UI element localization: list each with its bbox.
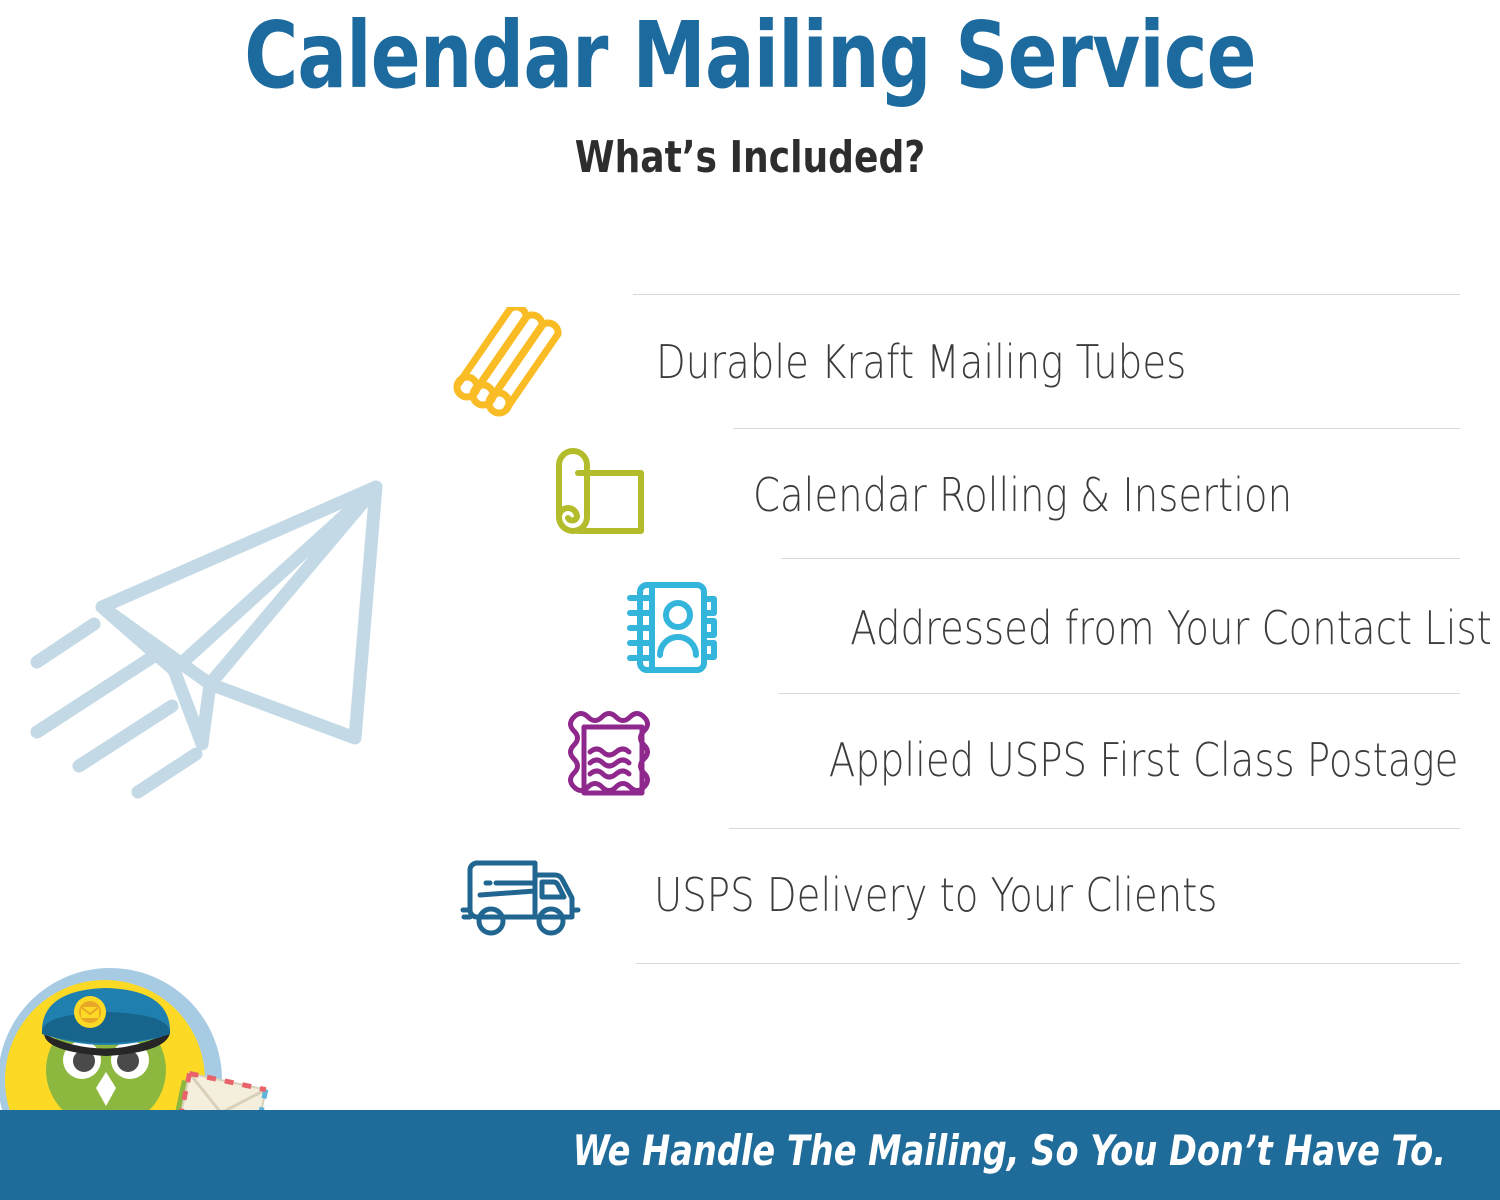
mailing-tubes-icon [450, 307, 570, 417]
feature-label: USPS Delivery to Your Clients [654, 872, 1217, 918]
feature-label: Addressed from Your Contact List [850, 605, 1492, 651]
feature-row-delivery: USPS Delivery to Your Clients [452, 845, 1460, 945]
divider-bottom [636, 963, 1460, 964]
delivery-truck-icon [452, 848, 582, 943]
divider-2 [781, 558, 1460, 559]
feature-list: Durable Kraft Mailing Tubes Ca [0, 0, 1500, 1200]
postage-stamp-icon [558, 705, 668, 815]
divider-4 [729, 828, 1460, 829]
divider-top [633, 294, 1460, 295]
feature-row-contact-list: Addressed from Your Contact List [618, 578, 1460, 678]
feature-label: Calendar Rolling & Insertion [753, 472, 1292, 518]
feature-row-mailing-tubes: Durable Kraft Mailing Tubes [450, 312, 1460, 412]
rolled-calendar-icon [545, 445, 665, 545]
feature-row-postage: Applied USPS First Class Postage [558, 710, 1460, 810]
feature-label: Durable Kraft Mailing Tubes [656, 339, 1186, 385]
feature-label: Applied USPS First Class Postage [829, 737, 1458, 783]
divider-3 [779, 693, 1460, 694]
banner-tagline: We Handle The Mailing, So You Don’t Have… [294, 1128, 1470, 1174]
feature-row-calendar-rolling: Calendar Rolling & Insertion [545, 445, 1460, 545]
divider-1 [733, 428, 1460, 429]
contact-address-book-icon [618, 573, 728, 683]
infographic-page: Calendar Mailing Service What’s Included… [0, 0, 1500, 1200]
